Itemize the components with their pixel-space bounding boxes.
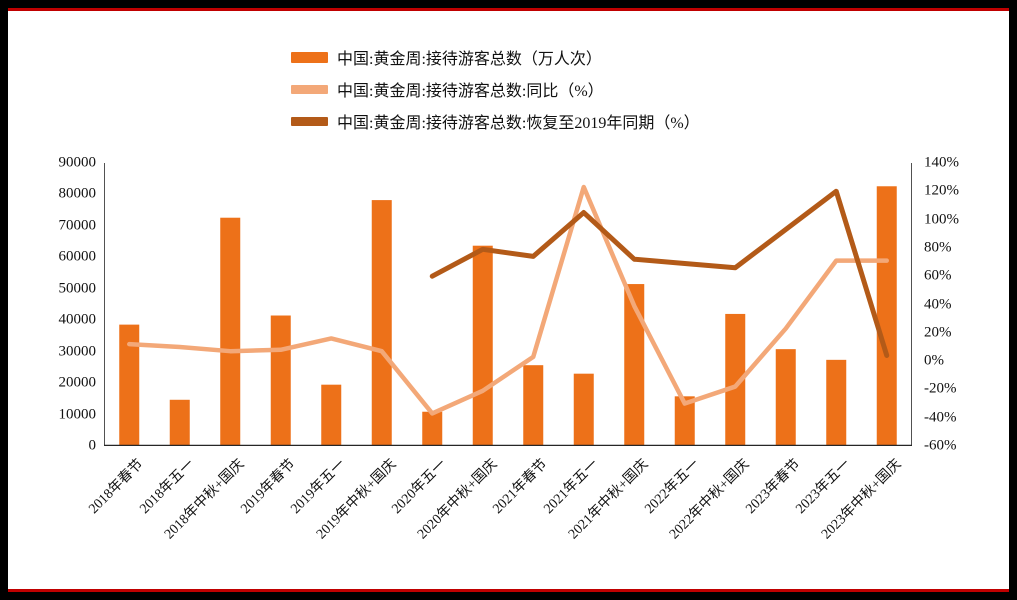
bar-9 [574, 374, 594, 446]
bar-3 [271, 316, 291, 446]
legend-label-recovery: 中国:黄金周:接待游客总数:恢复至2019年同期（%） [337, 109, 700, 133]
x-axis-labels: 2018年春节2018年五一2018年中秋+国庆2019年春节2019年五一20… [8, 446, 1009, 596]
legend-swatch-recovery-icon [291, 117, 328, 126]
bar-6 [422, 412, 442, 446]
legend-item-yoy: 中国:黄金周:接待游客总数:同比（%） [8, 73, 1009, 105]
bar-15 [877, 186, 897, 446]
legend-item-recovery: 中国:黄金周:接待游客总数:恢复至2019年同期（%） [8, 105, 1009, 137]
y-right-tick-8: 100% [924, 211, 959, 228]
legend-label-yoy: 中国:黄金周:接待游客总数:同比（%） [337, 77, 604, 101]
y-right-tick-4: 20% [924, 324, 952, 341]
chart-legend: 中国:黄金周:接待游客总数（万人次） 中国:黄金周:接待游客总数:同比（%） 中… [8, 41, 1009, 137]
line-series-0 [129, 187, 887, 413]
y-right-tick-7: 80% [924, 239, 952, 256]
plot-area [104, 163, 912, 446]
chart-card: 中国:黄金周:接待游客总数（万人次） 中国:黄金周:接待游客总数:同比（%） 中… [8, 8, 1009, 592]
bar-13 [776, 349, 796, 446]
bar-1 [170, 400, 190, 446]
bar-2 [220, 218, 240, 446]
bar-8 [523, 365, 543, 446]
bar-4 [321, 385, 341, 446]
y-right-tick-3: 0% [924, 353, 944, 370]
y-right-tick-9: 120% [924, 183, 959, 200]
bar-14 [826, 360, 846, 446]
bar-5 [372, 200, 392, 446]
legend-swatch-bar-icon [291, 52, 328, 63]
legend-swatch-yoy-icon [291, 85, 328, 94]
y-right-tick-6: 60% [924, 268, 952, 285]
line-series-1 [432, 191, 887, 355]
y-right-tick-5: 40% [924, 296, 952, 313]
legend-item-bar: 中国:黄金周:接待游客总数（万人次） [8, 41, 1009, 73]
legend-label-bar: 中国:黄金周:接待游客总数（万人次） [337, 45, 602, 69]
x-tick-label-0: 2018年春节 [84, 454, 148, 518]
y-right-tick-2: -20% [924, 381, 957, 398]
y-right-tick-1: -40% [924, 409, 957, 426]
bar-7 [473, 246, 493, 446]
chart-canvas [104, 163, 912, 446]
y-right-tick-10: 140% [924, 155, 959, 172]
